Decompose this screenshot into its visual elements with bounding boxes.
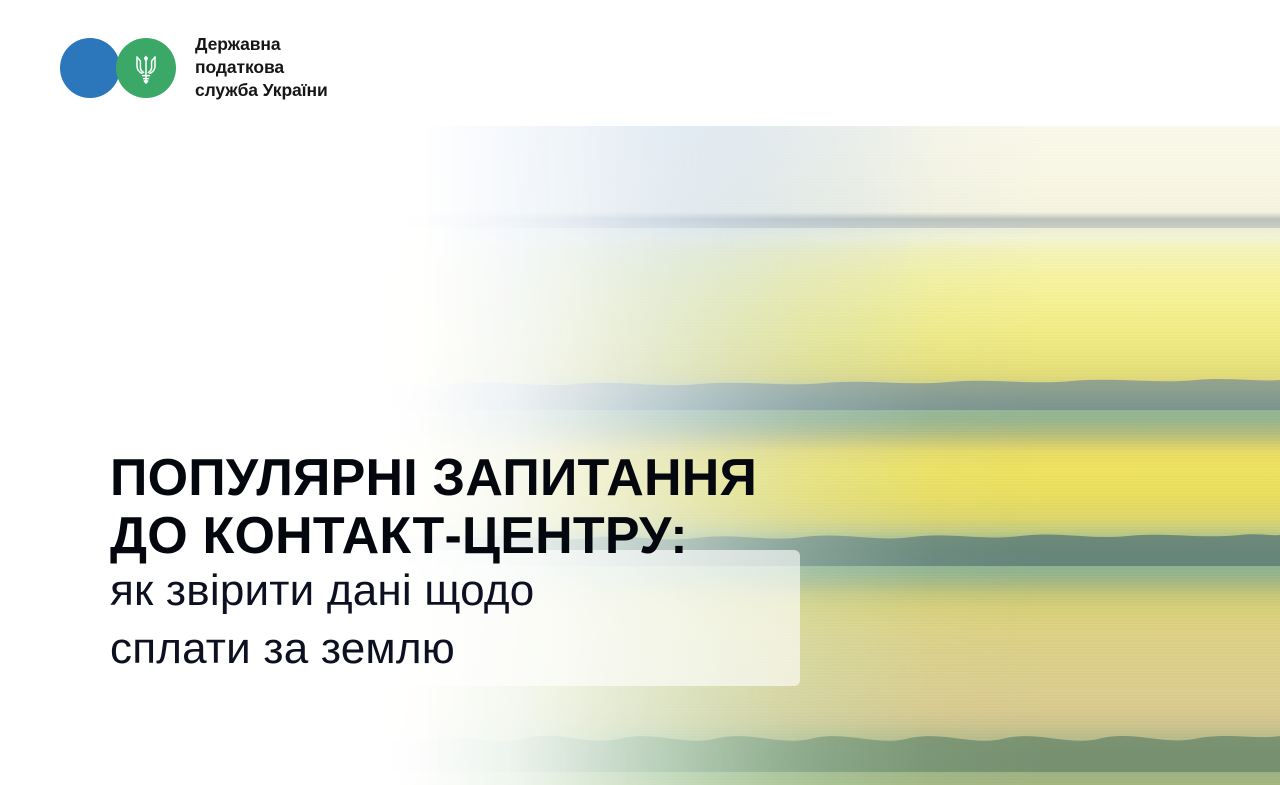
headline-line-2: ДО КОНТАКТ-ЦЕНТРУ: [110, 507, 757, 565]
site-header: Державна податкова служба України [0, 0, 1280, 126]
subtitle-line-1: як звірити дані щодо [110, 562, 534, 620]
page-subtitle: як звірити дані щодо сплати за землю [110, 562, 534, 678]
logo-blue-circle-icon [60, 38, 120, 98]
logo-text-line-1: Державна [195, 33, 328, 56]
poster-page: Державна податкова служба України ПОПУЛЯ… [0, 0, 1280, 785]
logo-wordmark: Державна податкова служба України [195, 33, 328, 102]
logo-text-line-2: податкова [195, 56, 328, 79]
logo-green-circle-icon [116, 38, 176, 98]
hero-banner: ПОПУЛЯРНІ ЗАПИТАННЯ ДО КОНТАКТ-ЦЕНТРУ: я… [0, 126, 1280, 785]
page-title: ПОПУЛЯРНІ ЗАПИТАННЯ ДО КОНТАКТ-ЦЕНТРУ: [110, 449, 757, 565]
headline-line-1: ПОПУЛЯРНІ ЗАПИТАННЯ [110, 449, 757, 507]
trident-emblem-icon [133, 52, 159, 84]
tax-service-logo[interactable]: Державна податкова служба України [60, 33, 328, 102]
logo-text-line-3: служба України [195, 79, 328, 102]
subtitle-line-2: сплати за землю [110, 620, 534, 678]
